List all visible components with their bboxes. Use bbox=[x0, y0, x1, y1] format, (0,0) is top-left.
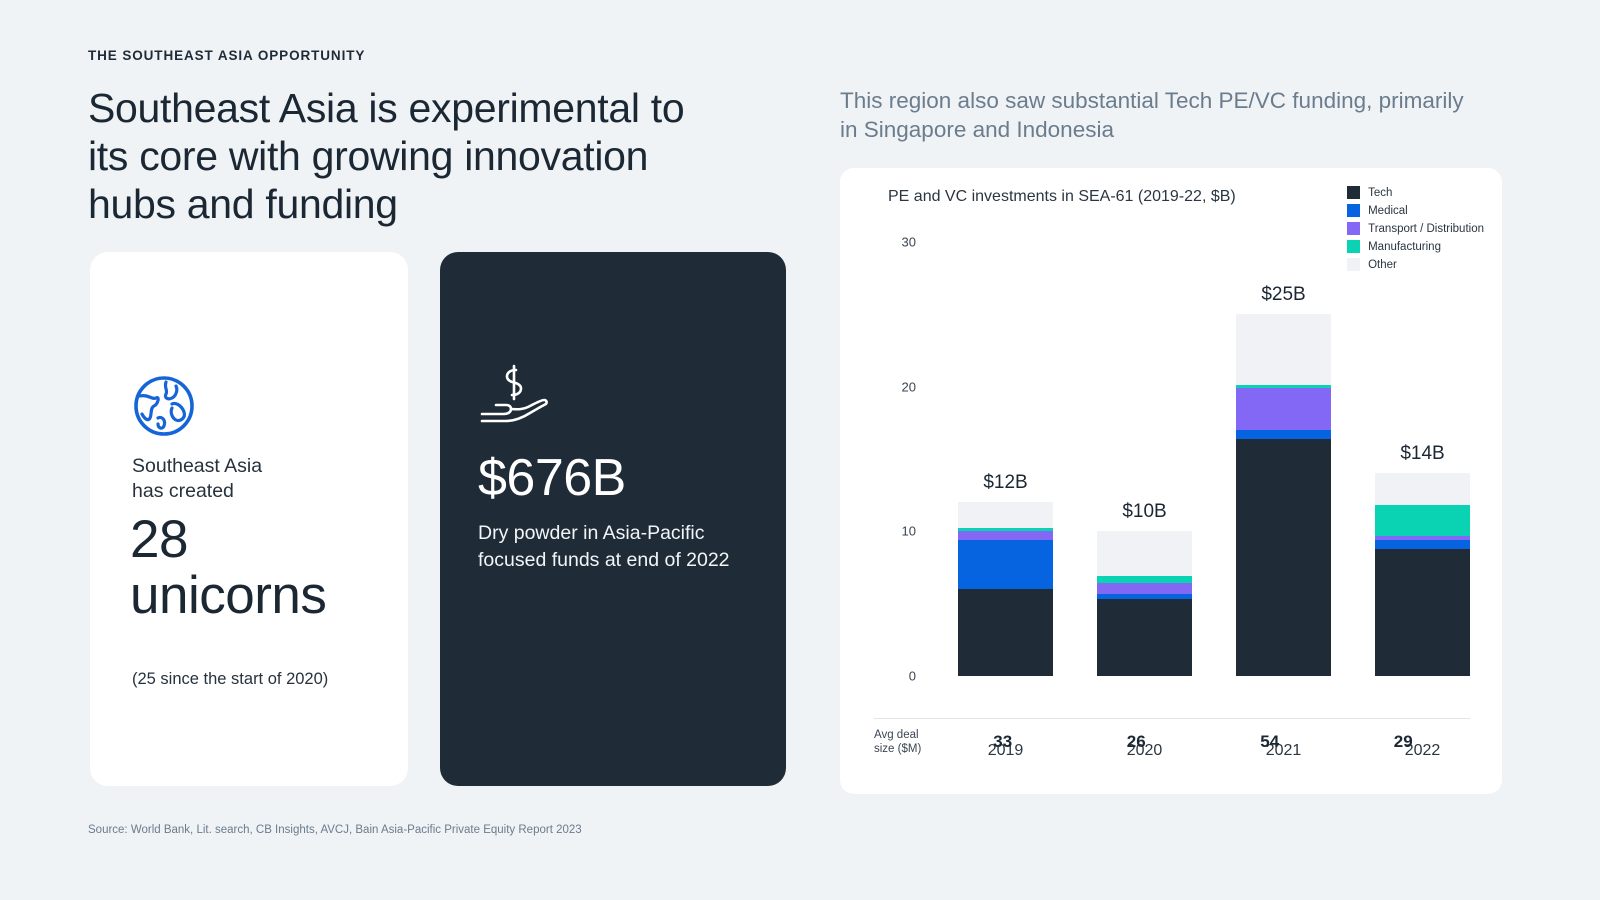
avg-deal-size-value: 33 bbox=[936, 732, 1070, 752]
left-column: THE SOUTHEAST ASIA OPPORTUNITY Southeast… bbox=[88, 48, 788, 229]
bar-segment-tech[interactable] bbox=[1097, 599, 1192, 676]
bar-segment-other[interactable] bbox=[1236, 314, 1331, 385]
y-axis-tick: 30 bbox=[874, 235, 916, 250]
avg-deal-size-values: 33265429 bbox=[936, 732, 1470, 752]
avg-deal-size-label: Avg deal size ($M) bbox=[874, 728, 936, 757]
bar-segment-transport-distribution[interactable] bbox=[1236, 388, 1331, 430]
legend-label: Medical bbox=[1368, 205, 1408, 217]
chart-card: PE and VC investments in SEA-61 (2019-22… bbox=[840, 168, 1502, 794]
avg-deal-size-value: 54 bbox=[1203, 732, 1337, 752]
bar-segment-transport-distribution[interactable] bbox=[1097, 583, 1192, 593]
bar-segment-other[interactable] bbox=[1375, 473, 1470, 505]
bar-column-2020[interactable]: $10B bbox=[1075, 242, 1214, 676]
bar-total-label: $12B bbox=[936, 472, 1075, 494]
source-note: Source: World Bank, Lit. search, CB Insi… bbox=[88, 824, 582, 836]
legend-swatch bbox=[1347, 186, 1360, 199]
unicorns-card-value: 28 unicorns bbox=[130, 512, 326, 624]
bar-segment-medical[interactable] bbox=[1375, 540, 1470, 549]
dry-powder-description: Dry powder in Asia-Pacific focused funds… bbox=[478, 520, 738, 575]
bar-segment-medical[interactable] bbox=[1236, 430, 1331, 439]
bar-total-label: $10B bbox=[1075, 501, 1214, 523]
bar-group: $12B$10B$25B$14B bbox=[936, 242, 1492, 676]
globe-icon bbox=[132, 374, 196, 443]
bar-segment-tech[interactable] bbox=[1236, 439, 1331, 676]
bar-segment-medical[interactable] bbox=[958, 540, 1053, 589]
unicorns-card-note: (25 since the start of 2020) bbox=[132, 670, 328, 689]
bar-segment-manufacturing[interactable] bbox=[1375, 505, 1470, 535]
y-axis-tick: 0 bbox=[874, 669, 916, 684]
legend-swatch bbox=[1347, 204, 1360, 217]
bar-segment-other[interactable] bbox=[1097, 531, 1192, 576]
bar-total-label: $25B bbox=[1214, 284, 1353, 306]
avg-deal-size-value: 29 bbox=[1337, 732, 1471, 752]
bar-stack bbox=[1375, 473, 1470, 676]
hand-holding-dollar-icon bbox=[478, 364, 550, 433]
bar-segment-tech[interactable] bbox=[1375, 549, 1470, 676]
slide-root: THE SOUTHEAST ASIA OPPORTUNITY Southeast… bbox=[0, 0, 1600, 900]
eyebrow-label: THE SOUTHEAST ASIA OPPORTUNITY bbox=[88, 48, 788, 63]
chart-plot-area: 0102030 $12B$10B$25B$14B 201920202021202… bbox=[874, 226, 1502, 676]
bar-column-2019[interactable]: $12B bbox=[936, 242, 1075, 676]
bar-column-2022[interactable]: $14B bbox=[1353, 242, 1492, 676]
bar-segment-other[interactable] bbox=[958, 502, 1053, 528]
y-axis-tick: 20 bbox=[874, 379, 916, 394]
right-headline: This region also saw substantial Tech PE… bbox=[840, 86, 1480, 145]
bar-stack bbox=[1236, 314, 1331, 676]
bar-segment-tech[interactable] bbox=[958, 589, 1053, 676]
avg-deal-size-value: 26 bbox=[1070, 732, 1204, 752]
bar-total-label: $14B bbox=[1353, 443, 1492, 465]
bar-segment-manufacturing[interactable] bbox=[1097, 576, 1192, 583]
bar-segment-transport-distribution[interactable] bbox=[958, 531, 1053, 540]
bar-stack bbox=[958, 502, 1053, 676]
legend-item-tech[interactable]: Tech bbox=[1347, 186, 1484, 199]
bar-stack bbox=[1097, 531, 1192, 676]
chart-title: PE and VC investments in SEA-61 (2019-22… bbox=[888, 188, 1236, 206]
avg-deal-size-row: Avg deal size ($M) 33265429 bbox=[874, 728, 1470, 757]
unicorns-card: Southeast Asia has created 28 unicorns (… bbox=[90, 252, 408, 786]
table-divider bbox=[874, 718, 1470, 719]
dry-powder-card: $676B Dry powder in Asia-Pacific focused… bbox=[440, 252, 786, 786]
dry-powder-value: $676B bbox=[478, 448, 626, 508]
unicorns-card-label: Southeast Asia has created bbox=[132, 454, 262, 504]
page-title: Southeast Asia is experimental to its co… bbox=[88, 85, 688, 229]
bar-column-2021[interactable]: $25B bbox=[1214, 242, 1353, 676]
legend-label: Tech bbox=[1368, 187, 1392, 199]
legend-item-medical[interactable]: Medical bbox=[1347, 204, 1484, 217]
y-axis-tick: 10 bbox=[874, 524, 916, 539]
